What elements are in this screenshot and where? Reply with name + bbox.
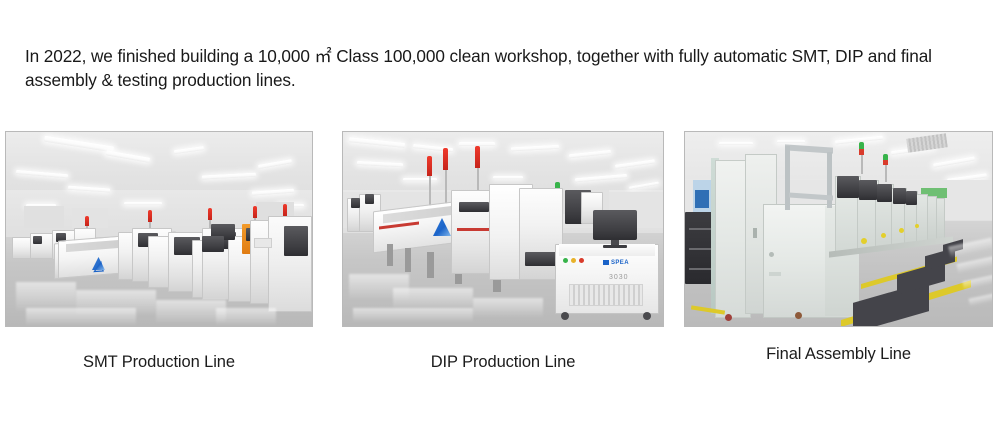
figure-final-assembly-line: Final Assembly Line	[684, 131, 993, 327]
caption-final-assembly-line: Final Assembly Line	[684, 345, 993, 364]
photo-final-assembly-line	[685, 132, 992, 326]
photo-frame-dip[interactable]: SPEA 3030	[342, 131, 664, 327]
production-line-gallery: △	[0, 0, 1000, 429]
caption-dip-production-line: DIP Production Line	[342, 353, 664, 372]
equipment-label-spea: SPEA	[611, 260, 629, 266]
figure-smt-production-line: △	[5, 131, 313, 327]
photo-smt-production-line: △	[6, 132, 312, 326]
photo-dip-production-line: SPEA 3030	[343, 132, 663, 326]
photo-frame-final-assembly[interactable]	[684, 131, 993, 327]
figure-dip-production-line: SPEA 3030 DIP Production Line	[342, 131, 664, 327]
photo-frame-smt[interactable]: △	[5, 131, 313, 327]
caption-smt-production-line: SMT Production Line	[5, 353, 313, 372]
